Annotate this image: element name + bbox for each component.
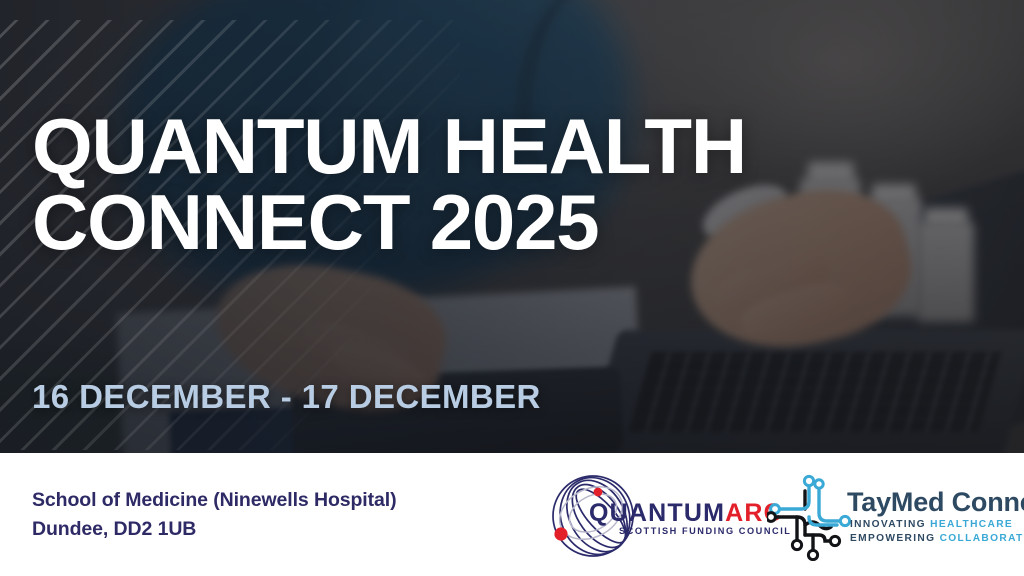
quantumarc-dot bbox=[594, 487, 603, 496]
venue-line-1: School of Medicine (Ninewells Hospital) bbox=[32, 486, 396, 514]
quantumarc-word-primary: QUANTUM bbox=[589, 499, 725, 527]
quantumarc-wordmark: QUANTUMARC bbox=[589, 499, 783, 528]
event-banner: QUANTUM HEALTH CONNECT 2025 16 DECEMBER … bbox=[0, 0, 1024, 576]
taymed-wordmark: TayMed Connect bbox=[847, 487, 1024, 518]
taymed-tagline-line-2: EMPOWERING COLLABORATION bbox=[850, 533, 1024, 544]
venue-line-2: Dundee, DD2 1UB bbox=[32, 515, 396, 543]
partner-logos: QUANTUMARC SCOTTISH FUNDING COUNCIL bbox=[543, 453, 1018, 576]
taymed-tagline-1-dark: INNOVATING bbox=[850, 519, 926, 530]
quantumarc-dot bbox=[554, 527, 567, 540]
venue-address: School of Medicine (Ninewells Hospital) … bbox=[32, 486, 396, 543]
event-dates: 16 DECEMBER - 17 DECEMBER bbox=[32, 378, 541, 416]
taymed-tagline-2-dark: EMPOWERING bbox=[850, 533, 935, 544]
hero-text-block: QUANTUM HEALTH CONNECT 2025 16 DECEMBER … bbox=[32, 0, 992, 453]
taymed-tagline-line-1: INNOVATING HEALTHCARE bbox=[850, 519, 1013, 530]
taymed-connect-logo[interactable]: TayMed Connect INNOVATING HEALTHCARE EMP… bbox=[773, 465, 1018, 565]
hero-section: QUANTUM HEALTH CONNECT 2025 16 DECEMBER … bbox=[0, 0, 1024, 453]
taymed-tagline-2-blue: COLLABORATION bbox=[940, 533, 1024, 544]
event-title: QUANTUM HEALTH CONNECT 2025 bbox=[32, 108, 932, 261]
taymed-circuit-icon bbox=[767, 473, 857, 561]
event-title-line-2: CONNECT 2025 bbox=[32, 184, 932, 260]
footer-bar: School of Medicine (Ninewells Hospital) … bbox=[0, 453, 1024, 576]
quantumarc-subtitle: SCOTTISH FUNDING COUNCIL bbox=[619, 526, 791, 536]
quantumarc-logo[interactable]: QUANTUMARC SCOTTISH FUNDING COUNCIL bbox=[543, 467, 765, 563]
event-title-line-1: QUANTUM HEALTH bbox=[32, 102, 746, 190]
taymed-tagline-1-blue: HEALTHCARE bbox=[930, 519, 1013, 530]
